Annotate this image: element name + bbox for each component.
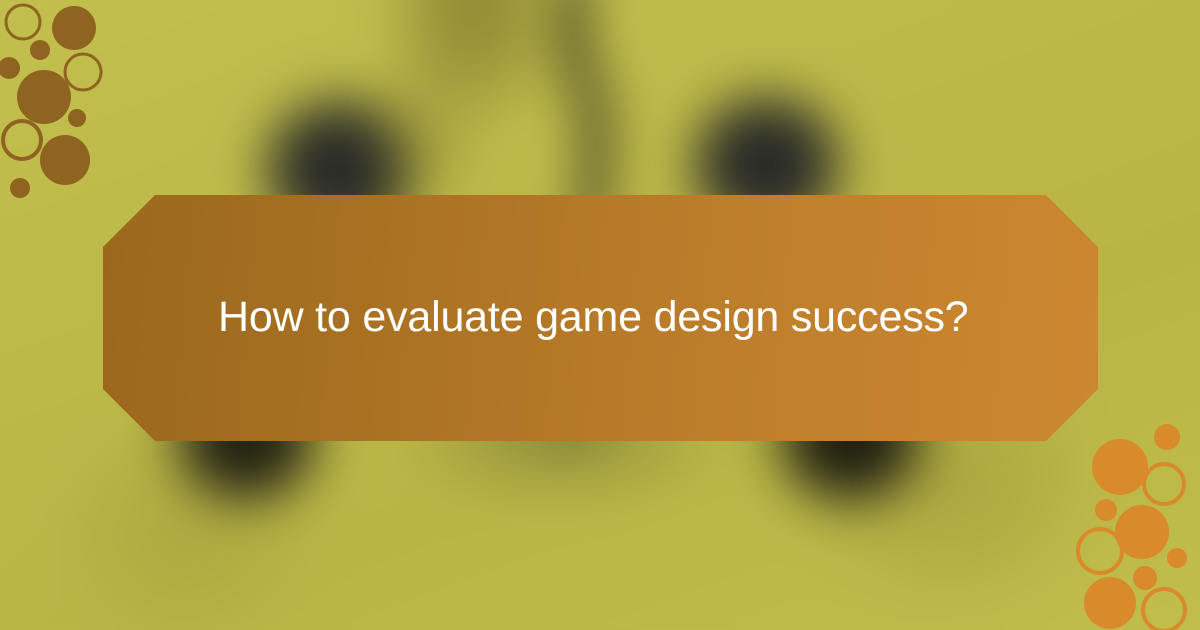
hero-banner: How to evaluate game design success? [0,0,1200,630]
circle-cluster-bottom-right [1025,420,1200,630]
deco-shape-group [0,5,101,198]
circle-cluster-top-left [0,0,200,210]
deco-shape-group [1078,424,1187,630]
title-plate: How to evaluate game design success? [103,195,1098,441]
page-title: How to evaluate game design success? [103,293,1009,342]
